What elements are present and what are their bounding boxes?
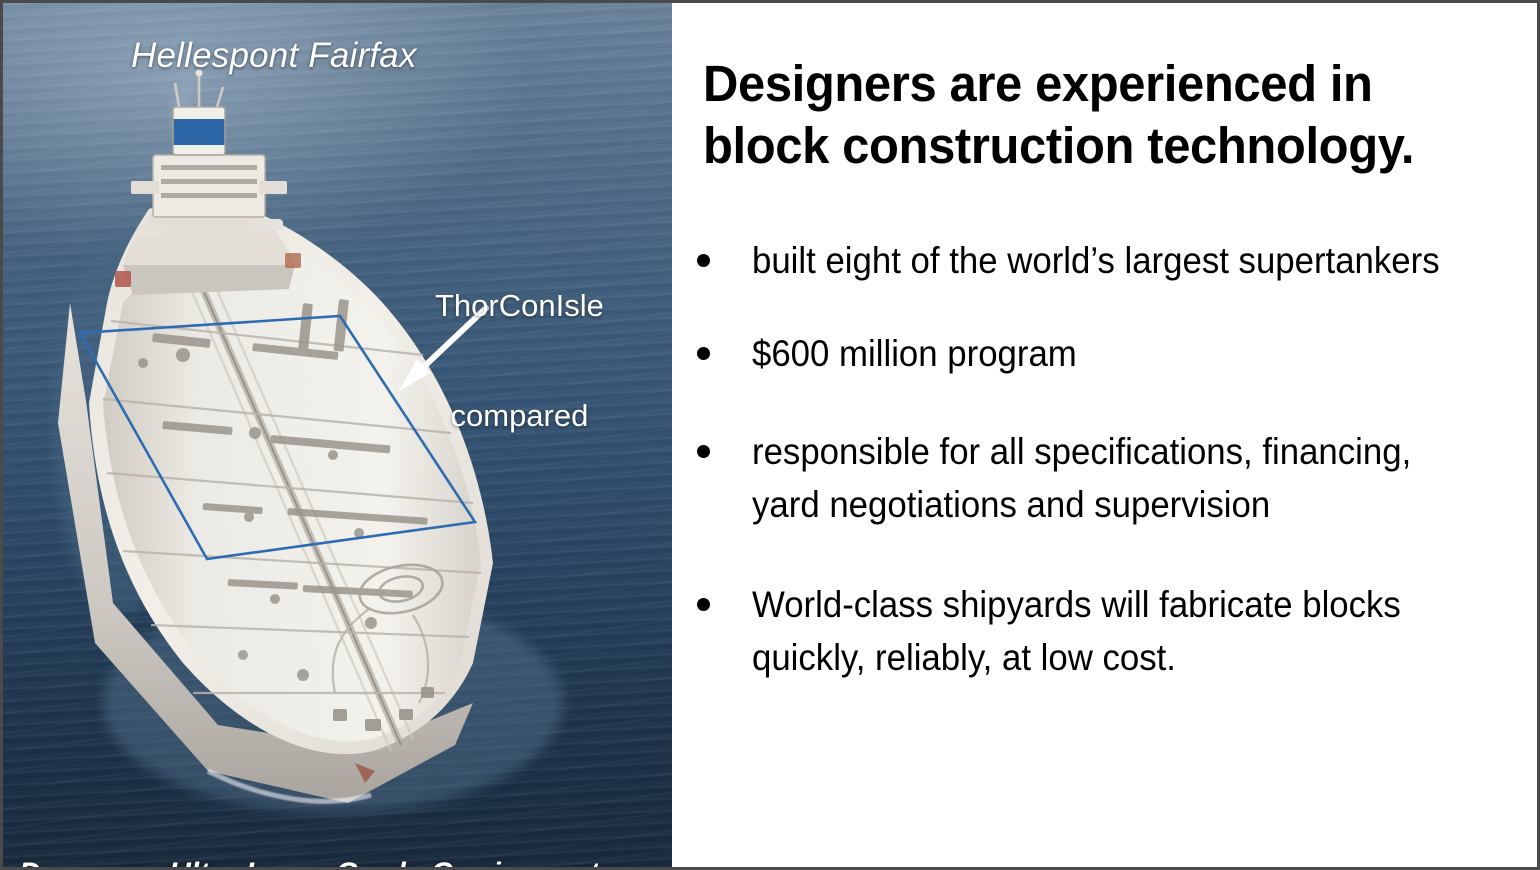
photo-caption-line1: Devanney Ultra Large Crude Carrier cost bbox=[19, 856, 599, 867]
bullet-dot-icon bbox=[697, 445, 710, 458]
slide-title: Designers are experienced in block const… bbox=[703, 53, 1471, 177]
bullet-list: built eight of the world’s largest super… bbox=[672, 235, 1540, 708]
bullet-dot-icon bbox=[697, 254, 710, 267]
bullet-dot-icon bbox=[697, 598, 710, 611]
bullet-4-line1: World-class shipyards will fabricate bbox=[752, 584, 1293, 625]
comparison-label-line2: compared bbox=[435, 398, 604, 435]
bullet-item-4: World-class shipyards will fabricate blo… bbox=[672, 579, 1540, 684]
bullet-item-4-text: World-class shipyards will fabricate blo… bbox=[752, 579, 1448, 684]
slide-title-line1: Designers are experienced in bbox=[703, 53, 1471, 115]
bullet-item-3: responsible for all specifications, fina… bbox=[672, 426, 1540, 531]
comparison-label: ThorConIsle compared bbox=[435, 215, 604, 508]
bullet-item-1: built eight of the world’s largest super… bbox=[672, 235, 1540, 288]
thorconisle-footprint-box bbox=[80, 316, 475, 559]
bullet-1-line1: built eight of the world’s largest bbox=[752, 240, 1229, 281]
bullet-item-2: $600 million program bbox=[672, 328, 1540, 381]
bullet-3-line3: supervision bbox=[1094, 484, 1270, 525]
ship-name-label: Hellespont Fairfax bbox=[131, 35, 417, 76]
bullet-2-line1: $600 million program bbox=[752, 333, 1077, 374]
ship-photo-panel: Hellespont Fairfax ThorConIsle compared … bbox=[3, 3, 672, 867]
slide-title-line2: block construction technology. bbox=[703, 115, 1471, 177]
bullet-item-3-text: responsible for all specifications, fina… bbox=[752, 426, 1448, 531]
comparison-label-line1: ThorConIsle bbox=[435, 288, 604, 325]
slide-content-panel: Designers are experienced in block const… bbox=[672, 3, 1540, 867]
presentation-slide: Hellespont Fairfax ThorConIsle compared … bbox=[0, 0, 1540, 870]
bullet-1-line2: supertankers bbox=[1239, 240, 1440, 281]
bullet-dot-icon bbox=[697, 347, 710, 360]
bullet-3-line1: responsible for all specifications, bbox=[752, 431, 1253, 472]
bullet-item-2-text: $600 million program bbox=[752, 328, 1448, 381]
photo-caption: Devanney Ultra Large Crude Carrier cost … bbox=[19, 783, 599, 867]
bullet-item-1-text: built eight of the world’s largest super… bbox=[752, 235, 1448, 288]
